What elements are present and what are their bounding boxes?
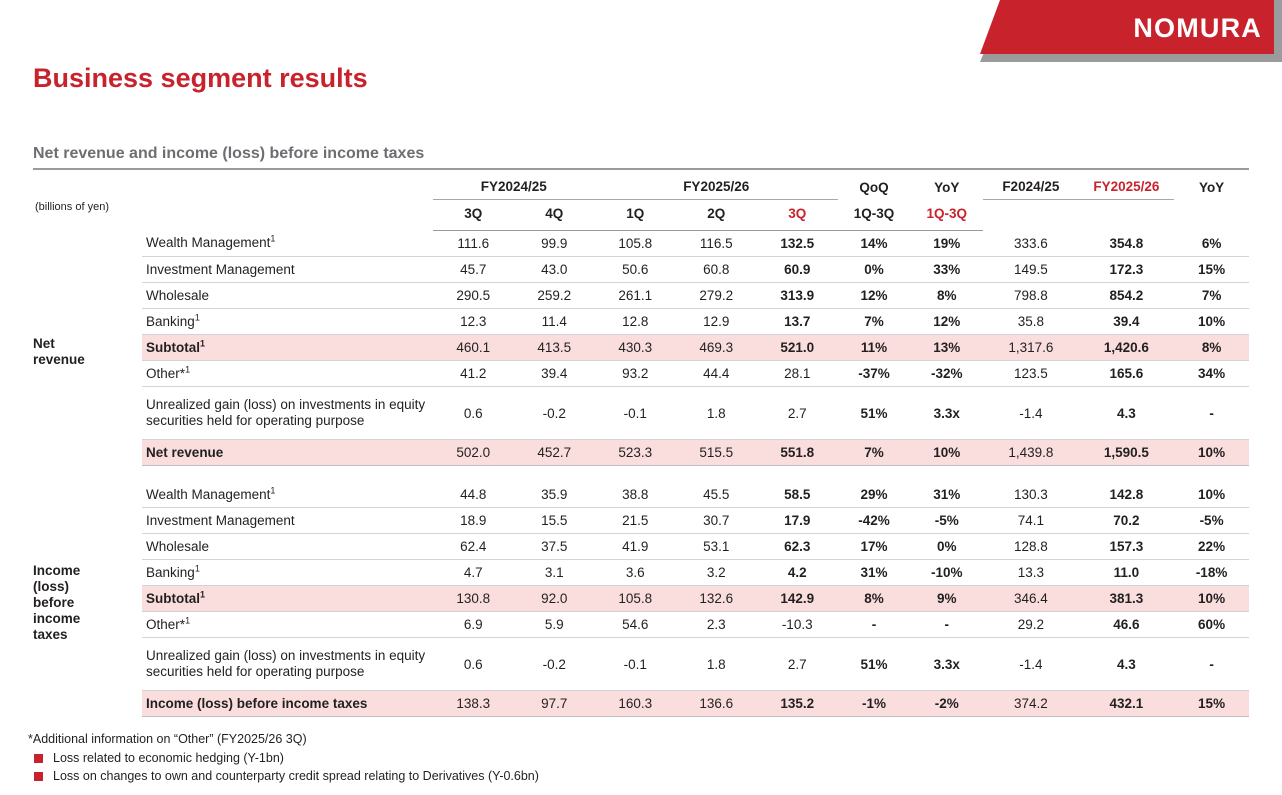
table-cell: 7% xyxy=(838,309,911,335)
table-cell: 515.5 xyxy=(676,440,757,466)
table-cell: 259.2 xyxy=(514,283,595,309)
row-label: Banking1 xyxy=(142,309,433,335)
table-cell: 38.8 xyxy=(595,482,676,508)
col-head-fy2024-4q: 4Q xyxy=(514,200,595,231)
table-cell: - xyxy=(838,612,911,638)
table-cell: 551.8 xyxy=(757,440,838,466)
table-cell: 28.1 xyxy=(757,361,838,387)
table-cell: - xyxy=(1174,387,1249,440)
header-yoy-quarter: YoY xyxy=(910,175,983,200)
section-label-line: (loss) xyxy=(33,579,142,595)
table-cell: 346.4 xyxy=(983,586,1079,612)
header-group-row: (billions of yen) FY2024/25 FY2025/26 Qo… xyxy=(33,175,1249,199)
table-cell: 35.8 xyxy=(983,309,1079,335)
table-cell: 172.3 xyxy=(1079,257,1175,283)
row-label: Net revenue xyxy=(142,440,433,466)
table-cell: 37.5 xyxy=(514,534,595,560)
group-header-fy2025: FY2025/26 xyxy=(595,175,838,199)
table-cell: 432.1 xyxy=(1079,691,1175,717)
table-cell: -10% xyxy=(910,560,983,586)
table-row: Investment Management45.743.050.660.860.… xyxy=(33,257,1249,283)
header-yoy-cumulative: YoY xyxy=(1174,175,1249,200)
table-cell: 160.3 xyxy=(595,691,676,717)
group-header-cum-2024: F2024/25 xyxy=(983,175,1079,199)
table-cell: 2.3 xyxy=(676,612,757,638)
table-cell: -42% xyxy=(838,508,911,534)
row-label: Other*1 xyxy=(142,361,433,387)
table-cell: 130.3 xyxy=(983,482,1079,508)
table-cell: 12% xyxy=(910,309,983,335)
table-cell: 142.9 xyxy=(757,586,838,612)
table-cell: -0.2 xyxy=(514,387,595,440)
table-cell: 374.2 xyxy=(983,691,1079,717)
table-cell: 138.3 xyxy=(433,691,514,717)
table-cell: 1.8 xyxy=(676,638,757,691)
table-row: Subtotal1130.892.0105.8132.6142.98%9%346… xyxy=(33,586,1249,612)
table-row: Net revenue502.0452.7523.3515.5551.87%10… xyxy=(33,440,1249,466)
table-cell: 123.5 xyxy=(983,361,1079,387)
table-cell: 10% xyxy=(1174,309,1249,335)
table-cell: 97.7 xyxy=(514,691,595,717)
table-cell: 7% xyxy=(838,440,911,466)
table-cell: 9% xyxy=(910,586,983,612)
table-cell: 502.0 xyxy=(433,440,514,466)
table-cell: 15% xyxy=(1174,691,1249,717)
row-label: Wholesale xyxy=(142,534,433,560)
col-head-fy2025-3q: 3Q xyxy=(757,200,838,231)
section-label-line: Net xyxy=(33,336,142,352)
row-label: Banking1 xyxy=(142,560,433,586)
col-head-cum-2024: 1Q-3Q xyxy=(838,200,911,231)
table-cell: 10% xyxy=(1174,482,1249,508)
table-cell: 45.5 xyxy=(676,482,757,508)
section-subtitle: Net revenue and income (loss) before inc… xyxy=(33,145,424,163)
table-cell: 53.1 xyxy=(676,534,757,560)
section-label: Netrevenue xyxy=(33,231,142,466)
table-cell: 39.4 xyxy=(1079,309,1175,335)
table-cell: 452.7 xyxy=(514,440,595,466)
table-cell: 11.4 xyxy=(514,309,595,335)
table-cell: 3.1 xyxy=(514,560,595,586)
table-cell: 46.6 xyxy=(1079,612,1175,638)
table-cell: 12.9 xyxy=(676,309,757,335)
table-cell: 19% xyxy=(910,231,983,257)
table-cell: 1,590.5 xyxy=(1079,440,1175,466)
table-cell: 30.7 xyxy=(676,508,757,534)
row-label: Other*1 xyxy=(142,612,433,638)
table-cell: 44.8 xyxy=(433,482,514,508)
table-cell: 17% xyxy=(838,534,911,560)
footnote-item: Loss on changes to own and counterparty … xyxy=(28,768,539,785)
table-cell: 132.5 xyxy=(757,231,838,257)
table-cell: 3.3x xyxy=(910,638,983,691)
table-row: Income(loss)beforeincometaxesWealth Mana… xyxy=(33,482,1249,508)
square-bullet-icon xyxy=(34,754,43,763)
table-cell: 135.2 xyxy=(757,691,838,717)
table-cell: 10% xyxy=(910,440,983,466)
table-cell: 798.8 xyxy=(983,283,1079,309)
group-header-cum-2025: FY2025/26 xyxy=(1079,175,1175,199)
table-cell: 132.6 xyxy=(676,586,757,612)
table-cell: 116.5 xyxy=(676,231,757,257)
table-cell: -10.3 xyxy=(757,612,838,638)
unit-label: (billions of yen) xyxy=(33,175,142,231)
table-cell: 43.0 xyxy=(514,257,595,283)
table-cell: 8% xyxy=(910,283,983,309)
table-cell: 3.6 xyxy=(595,560,676,586)
table-cell: 279.2 xyxy=(676,283,757,309)
table-cell: 8% xyxy=(838,586,911,612)
table-cell: -37% xyxy=(838,361,911,387)
table-cell: 93.2 xyxy=(595,361,676,387)
table-cell: 11.0 xyxy=(1079,560,1175,586)
table-body: NetrevenueWealth Management1111.699.9105… xyxy=(33,231,1249,717)
section-gap xyxy=(33,466,1249,483)
table-cell: 354.8 xyxy=(1079,231,1175,257)
table-row: Banking112.311.412.812.913.77%12%35.839.… xyxy=(33,309,1249,335)
table-cell: 92.0 xyxy=(514,586,595,612)
table-cell: 6% xyxy=(1174,231,1249,257)
table-cell: 45.7 xyxy=(433,257,514,283)
table-cell: 12.3 xyxy=(433,309,514,335)
table-cell: 39.4 xyxy=(514,361,595,387)
table-cell: 523.3 xyxy=(595,440,676,466)
table-cell: 6.9 xyxy=(433,612,514,638)
table-cell: 58.5 xyxy=(757,482,838,508)
table-cell: 130.8 xyxy=(433,586,514,612)
table-cell: 33% xyxy=(910,257,983,283)
table-row: Income (loss) before income taxes138.397… xyxy=(33,691,1249,717)
table-row: NetrevenueWealth Management1111.699.9105… xyxy=(33,231,1249,257)
table-cell: 74.1 xyxy=(983,508,1079,534)
section-label-line: taxes xyxy=(33,627,142,643)
table-cell: 4.3 xyxy=(1079,387,1175,440)
table-cell: 13.3 xyxy=(983,560,1079,586)
row-label: Investment Management xyxy=(142,508,433,534)
table-cell: 5.9 xyxy=(514,612,595,638)
table-cell: 128.8 xyxy=(983,534,1079,560)
table-cell: 3.3x xyxy=(910,387,983,440)
footnote-item-text: Loss on changes to own and counterparty … xyxy=(53,768,539,785)
row-label: Unrealized gain (loss) on investments in… xyxy=(142,387,433,440)
table-row: Unrealized gain (loss) on investments in… xyxy=(33,387,1249,440)
table-cell: 29% xyxy=(838,482,911,508)
table-cell: -1.4 xyxy=(983,387,1079,440)
table-cell: 381.3 xyxy=(1079,586,1175,612)
subtitle-divider xyxy=(33,168,1249,170)
square-bullet-icon xyxy=(34,772,43,781)
table-row: Investment Management18.915.521.530.717.… xyxy=(33,508,1249,534)
business-segment-results-table: (billions of yen) FY2024/25 FY2025/26 Qo… xyxy=(33,175,1249,717)
table-row: Subtotal1460.1413.5430.3469.3521.011%13%… xyxy=(33,335,1249,361)
table-cell: 41.2 xyxy=(433,361,514,387)
table-row: Other*16.95.954.62.3-10.3--29.246.660% xyxy=(33,612,1249,638)
table-cell: 413.5 xyxy=(514,335,595,361)
row-label: Subtotal1 xyxy=(142,586,433,612)
col-head-fy2025-1q: 1Q xyxy=(595,200,676,231)
table-cell: 51% xyxy=(838,638,911,691)
table-cell: 50.6 xyxy=(595,257,676,283)
table-cell: 469.3 xyxy=(676,335,757,361)
table-cell: 4.2 xyxy=(757,560,838,586)
table-cell: 2.7 xyxy=(757,387,838,440)
table-cell: 0% xyxy=(910,534,983,560)
table-cell: 460.1 xyxy=(433,335,514,361)
table-cell: 1,439.8 xyxy=(983,440,1079,466)
table-row: Other*141.239.493.244.428.1-37%-32%123.5… xyxy=(33,361,1249,387)
header-qoq: QoQ xyxy=(838,175,911,200)
table-cell: 15.5 xyxy=(514,508,595,534)
table-cell: 21.5 xyxy=(595,508,676,534)
section-label-line: Income xyxy=(33,563,142,579)
table-row: Banking14.73.13.63.24.231%-10%13.311.0-1… xyxy=(33,560,1249,586)
table-cell: 12% xyxy=(838,283,911,309)
table-cell: 62.3 xyxy=(757,534,838,560)
table-cell: 261.1 xyxy=(595,283,676,309)
table-cell: 136.6 xyxy=(676,691,757,717)
table-cell: 11% xyxy=(838,335,911,361)
table-cell: 99.9 xyxy=(514,231,595,257)
table-cell: 60.8 xyxy=(676,257,757,283)
table-cell: -0.1 xyxy=(595,638,676,691)
table-cell: 333.6 xyxy=(983,231,1079,257)
section-label-line: income xyxy=(33,611,142,627)
section-label-line: before xyxy=(33,595,142,611)
table-cell: 62.4 xyxy=(433,534,514,560)
table-cell: 1.8 xyxy=(676,387,757,440)
table-cell: -0.2 xyxy=(514,638,595,691)
row-label: Wealth Management1 xyxy=(142,482,433,508)
table-cell: - xyxy=(1174,638,1249,691)
table-cell: 854.2 xyxy=(1079,283,1175,309)
col-head-fy2024-3q: 3Q xyxy=(433,200,514,231)
table-cell: 1,420.6 xyxy=(1079,335,1175,361)
row-label: Wealth Management1 xyxy=(142,231,433,257)
brand-banner: NOMURA xyxy=(980,0,1282,62)
table-cell: 41.9 xyxy=(595,534,676,560)
table-cell: 44.4 xyxy=(676,361,757,387)
table-cell: 34% xyxy=(1174,361,1249,387)
footnote-title: *Additional information on “Other” (FY20… xyxy=(28,731,539,748)
row-label: Income (loss) before income taxes xyxy=(142,691,433,717)
table-cell: -5% xyxy=(910,508,983,534)
footnote-item-text: Loss related to economic hedging (Y-1bn) xyxy=(53,750,284,767)
table-cell: 51% xyxy=(838,387,911,440)
table-cell: 15% xyxy=(1174,257,1249,283)
header-spacer xyxy=(142,175,433,231)
table-cell: 4.7 xyxy=(433,560,514,586)
table-cell: 0% xyxy=(838,257,911,283)
table-cell: -0.1 xyxy=(595,387,676,440)
footnotes: *Additional information on “Other” (FY20… xyxy=(28,731,539,785)
table-cell: 521.0 xyxy=(757,335,838,361)
table-row: Wholesale62.437.541.953.162.317%0%128.81… xyxy=(33,534,1249,560)
section-label: Income(loss)beforeincometaxes xyxy=(33,482,142,717)
table-cell: 4.3 xyxy=(1079,638,1175,691)
table-cell: -1.4 xyxy=(983,638,1079,691)
row-label: Wholesale xyxy=(142,283,433,309)
table-cell: 7% xyxy=(1174,283,1249,309)
table-cell: 105.8 xyxy=(595,586,676,612)
table-cell: 31% xyxy=(838,560,911,586)
table-cell: 35.9 xyxy=(514,482,595,508)
group-rule-cumulative xyxy=(983,199,1174,200)
table-cell: 18.9 xyxy=(433,508,514,534)
table-cell: 10% xyxy=(1174,586,1249,612)
row-label: Investment Management xyxy=(142,257,433,283)
table-row: Wholesale290.5259.2261.1279.2313.912%8%7… xyxy=(33,283,1249,309)
page-title: Business segment results xyxy=(33,63,368,94)
table-cell: 17.9 xyxy=(757,508,838,534)
table-cell: 157.3 xyxy=(1079,534,1175,560)
table-cell: 22% xyxy=(1174,534,1249,560)
table-row: Unrealized gain (loss) on investments in… xyxy=(33,638,1249,691)
table-cell: 430.3 xyxy=(595,335,676,361)
table-cell: 165.6 xyxy=(1079,361,1175,387)
table-cell: 13.7 xyxy=(757,309,838,335)
table-cell: 2.7 xyxy=(757,638,838,691)
row-label: Unrealized gain (loss) on investments in… xyxy=(142,638,433,691)
table-cell: 0.6 xyxy=(433,387,514,440)
table-cell: 12.8 xyxy=(595,309,676,335)
table-cell: 14% xyxy=(838,231,911,257)
table-cell: -5% xyxy=(1174,508,1249,534)
table-cell: 60% xyxy=(1174,612,1249,638)
table-cell: 8% xyxy=(1174,335,1249,361)
table-cell: 0.6 xyxy=(433,638,514,691)
table-cell: 1,317.6 xyxy=(983,335,1079,361)
table-cell: 13% xyxy=(910,335,983,361)
table-cell: 54.6 xyxy=(595,612,676,638)
table-cell: -32% xyxy=(910,361,983,387)
table-cell: -18% xyxy=(1174,560,1249,586)
table-cell: 142.8 xyxy=(1079,482,1175,508)
table-cell: 3.2 xyxy=(676,560,757,586)
table-cell: 105.8 xyxy=(595,231,676,257)
table-cell: 10% xyxy=(1174,440,1249,466)
row-label: Subtotal1 xyxy=(142,335,433,361)
table-cell: -1% xyxy=(838,691,911,717)
table-cell: 149.5 xyxy=(983,257,1079,283)
table-cell: 70.2 xyxy=(1079,508,1175,534)
table-cell: 290.5 xyxy=(433,283,514,309)
col-head-fy2025-2q: 2Q xyxy=(676,200,757,231)
col-head-cum-2025: 1Q-3Q xyxy=(910,200,983,231)
section-label-line: revenue xyxy=(33,352,142,368)
nomura-logo: NOMURA xyxy=(1133,13,1262,44)
group-header-fy2024: FY2024/25 xyxy=(433,175,595,199)
table-cell: 111.6 xyxy=(433,231,514,257)
table-cell: - xyxy=(910,612,983,638)
table-cell: 29.2 xyxy=(983,612,1079,638)
table-cell: 60.9 xyxy=(757,257,838,283)
table-cell: 313.9 xyxy=(757,283,838,309)
table-cell: 31% xyxy=(910,482,983,508)
table-header: (billions of yen) FY2024/25 FY2025/26 Qo… xyxy=(33,175,1249,231)
table-cell: -2% xyxy=(910,691,983,717)
footnote-item: Loss related to economic hedging (Y-1bn) xyxy=(28,750,539,767)
